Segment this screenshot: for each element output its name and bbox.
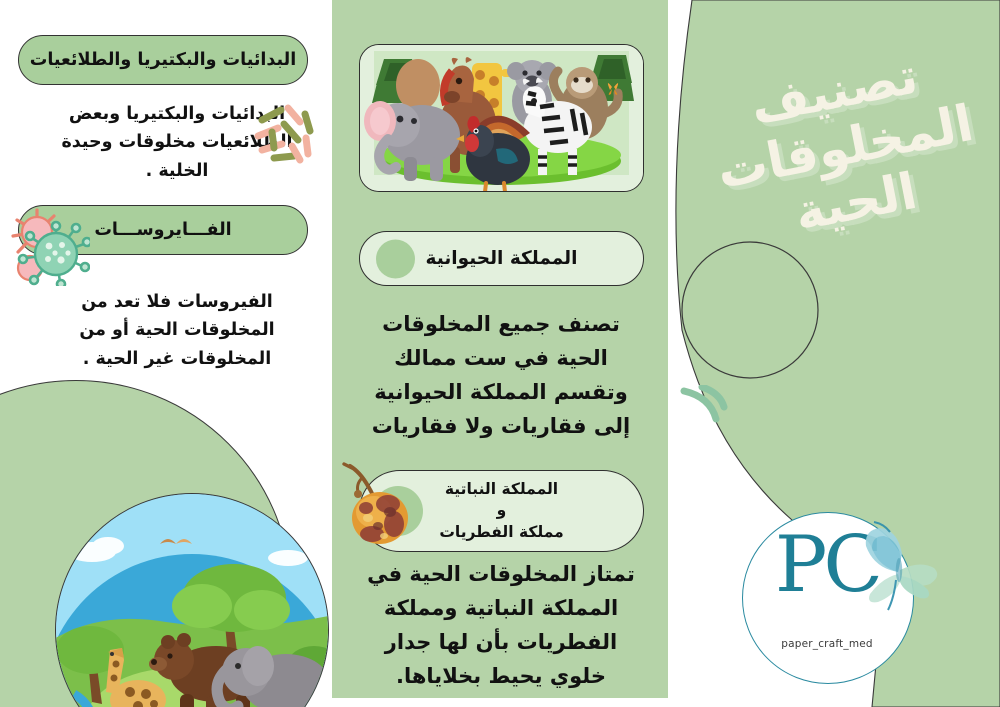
molded-fruit-illustration xyxy=(342,462,417,550)
badge-viruses-label: الفـــايروســـات xyxy=(94,220,231,240)
badge-fungi-label: مملكة الفطريات xyxy=(439,522,563,543)
logo-handle: paper_craft_med xyxy=(742,638,912,650)
badge-animal-kingdom-label: المملكة الحيوانية xyxy=(426,248,578,269)
butterfly-icon xyxy=(854,520,946,612)
green-dot-icon xyxy=(376,239,415,278)
badge-prokaryotes-label: البدائيات والبكتيريا والطلائعيات xyxy=(30,50,297,70)
bacteria-illustration xyxy=(248,98,322,170)
badge-animal-kingdom[interactable]: المملكة الحيوانية xyxy=(359,231,644,286)
center-panel: المملكة الحيوانية تصنف جميع المخلوقات ال… xyxy=(332,0,668,698)
badge-conjunction-label: و xyxy=(439,500,563,521)
badge-plant-label: المملكة النباتية xyxy=(439,479,563,500)
body-viruses: الفيروسات فلا تعد من المخلوقات الحية أو … xyxy=(52,288,302,373)
brochure-page: البدائيات والبكتيريا والطلائعيات البدائي… xyxy=(0,0,1000,707)
body-plant-fungi-kingdom: تمتاز المخلوقات الحية في المملكة النباتي… xyxy=(356,557,646,693)
animal-group-illustration xyxy=(359,44,644,192)
badge-prokaryotes[interactable]: البدائيات والبكتيريا والطلائعيات xyxy=(18,35,308,85)
virus-illustration xyxy=(4,196,90,286)
swoosh-arcs-icon xyxy=(680,385,740,435)
logo-group: PC paper_craft_med xyxy=(742,512,942,692)
body-animal-kingdom: تصنف جميع المخلوقات الحية في ست ممالك وت… xyxy=(356,307,646,443)
left-panel: البدائيات والبكتيريا والطلائعيات البدائي… xyxy=(0,0,330,707)
